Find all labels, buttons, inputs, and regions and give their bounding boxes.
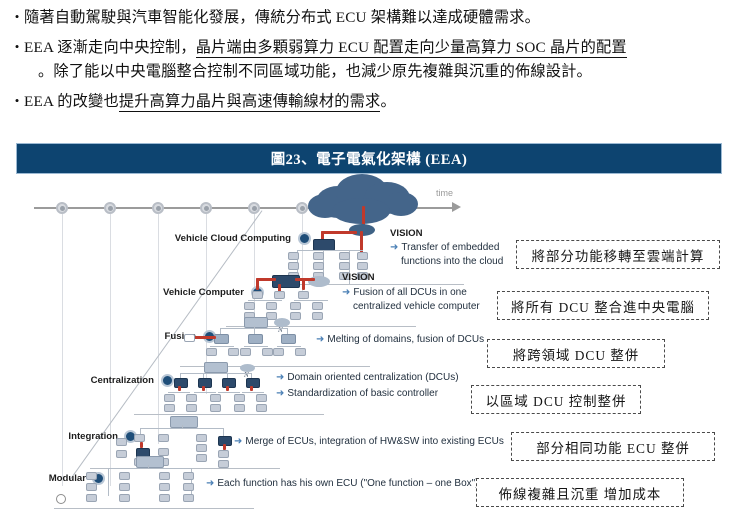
dcu-block-dark xyxy=(174,378,188,388)
ecu-block xyxy=(164,404,175,412)
annotation-box-integration: 部分相同功能 ECU 整併 xyxy=(511,432,715,461)
bus-connector-red xyxy=(295,278,315,281)
timeline-node xyxy=(248,202,260,214)
timeline-label: time xyxy=(436,188,453,198)
ecu-block-white xyxy=(184,334,195,342)
ecu-block xyxy=(210,404,221,412)
bus-line xyxy=(182,425,183,429)
dcu-block xyxy=(248,334,263,344)
ecu-block xyxy=(159,483,170,491)
dcu-block xyxy=(214,334,229,344)
stage-description: ➜Merge of ECUs, integration of HW&SW int… xyxy=(234,436,504,447)
bus-connector-red xyxy=(250,386,253,391)
ecu-block xyxy=(273,348,284,356)
arrow-icon: ➜ xyxy=(206,478,214,489)
ecu-block xyxy=(288,262,299,270)
bullet-text: 隨著自動駕駛與汽車智能化發展，傳統分布式 ECU 架構難以達成硬體需求。 xyxy=(24,6,726,30)
ecu-block xyxy=(290,302,301,310)
dcu-block xyxy=(281,334,296,344)
bus-connector-red xyxy=(321,231,357,234)
bus-line xyxy=(244,346,268,347)
figure-title-bar: 圖23、電子電氣化架構 (EEA) xyxy=(16,143,722,174)
bullet-marker: • xyxy=(10,90,24,111)
figure-canvas: time Vehicle Cloud Computing xyxy=(16,174,722,489)
timeline-arrowhead xyxy=(452,202,461,212)
ecu-block xyxy=(86,494,97,502)
bus-line xyxy=(168,392,190,393)
bullet-text: EEA 的改變也提升高算力晶片與高速傳輸線材的需求。 xyxy=(24,90,726,114)
arrow-icon: ➜ xyxy=(316,334,324,345)
list-item: • EEA 的改變也提升高算力晶片與高速傳輸線材的需求。 xyxy=(10,90,726,114)
arrow-icon: ➜ xyxy=(390,242,398,253)
bus-line xyxy=(277,346,301,347)
ecu-block xyxy=(116,450,127,458)
arrow-icon: ➜ xyxy=(276,372,284,383)
ecu-block xyxy=(206,348,217,356)
bullet-text-continued: 。除了能以中央電腦整合控制不同區域功能，也減少原先複雜與沉重的佈線設計。 xyxy=(24,60,726,84)
stage-label: Vehicle Cloud Computing xyxy=(76,233,291,244)
bus-line xyxy=(210,346,234,347)
timeline-node xyxy=(152,202,164,214)
bus-line xyxy=(218,392,240,393)
stage-description: ➜Transfer of embedded xyxy=(390,242,499,253)
bus-line xyxy=(148,465,149,469)
stage-label: Integration xyxy=(56,431,118,442)
ecu-block xyxy=(234,404,245,412)
ecu-block xyxy=(240,348,251,356)
bus-line xyxy=(180,373,252,374)
bus-connector-red xyxy=(226,386,229,391)
ecu-block xyxy=(158,448,169,456)
vision-keyword: VISION xyxy=(342,272,375,283)
bus-connector-red xyxy=(256,278,259,290)
stage-divider xyxy=(134,414,324,415)
ecu-block xyxy=(134,434,145,442)
ecu-block xyxy=(262,348,273,356)
bullet-text: EEA 逐漸走向中央控制，晶片端由多顆弱算力 ECU 配置走向少量高算力 SOC… xyxy=(24,36,726,60)
dcu-block-dark xyxy=(198,378,212,388)
stage-description: ➜Melting of domains, fusion of DCUs xyxy=(316,334,484,345)
annotation-box-fusion: 將跨領域 DCU 整併 xyxy=(487,339,665,368)
ecu-block xyxy=(274,291,285,299)
ecu-block xyxy=(119,472,130,480)
stage-description: ➜Standardization of basic controller xyxy=(276,388,438,399)
ecu-block xyxy=(228,348,239,356)
bus-line xyxy=(108,468,109,496)
ecu-block xyxy=(234,394,245,402)
ecu-block xyxy=(119,494,130,502)
figure-eea: 圖23、電子電氣化架構 (EEA) time xyxy=(16,143,722,489)
ecu-block xyxy=(256,394,267,402)
bus-line xyxy=(242,392,264,393)
cloud-icon xyxy=(306,172,424,230)
ecu-block xyxy=(159,494,170,502)
stage-description: ➜Domain oriented centralization (DCUs) xyxy=(276,372,459,383)
stage-marker xyxy=(298,232,311,245)
vision-keyword: VISION xyxy=(390,228,423,239)
ecu-block xyxy=(298,291,309,299)
ecu-block xyxy=(86,483,97,491)
dcu-block-dark xyxy=(246,378,260,388)
arrow-icon: ➜ xyxy=(234,436,242,447)
ecu-block xyxy=(116,438,127,446)
ecu-block xyxy=(196,444,207,452)
origin-marker xyxy=(56,494,66,504)
stage-description: functions into the cloud xyxy=(401,256,503,267)
ecu-block xyxy=(357,262,368,270)
bullet-marker: • xyxy=(10,36,24,57)
ecu-block xyxy=(218,450,229,458)
ecu-block xyxy=(183,472,194,480)
timeline-node xyxy=(200,202,212,214)
bus-connector-red xyxy=(256,278,276,281)
ecu-block xyxy=(183,494,194,502)
timeline-node xyxy=(56,202,68,214)
bus-line xyxy=(294,300,328,301)
gateway-block xyxy=(136,456,164,468)
ecu-block xyxy=(312,302,323,310)
ecu-block xyxy=(312,312,323,320)
arrow-icon: ➜ xyxy=(276,388,284,399)
domain-controller-block xyxy=(244,317,268,328)
stage-description: ➜Fusion of all DCUs in one xyxy=(342,287,467,298)
bus-connector-red xyxy=(302,278,305,290)
ecu-block xyxy=(313,252,324,260)
ecu-block xyxy=(159,472,170,480)
arrow-icon: ➜ xyxy=(342,287,350,298)
list-item: • 隨著自動駕駛與汽車智能化發展，傳統分布式 ECU 架構難以達成硬體需求。 xyxy=(10,6,726,30)
annotation-box-centralization: 以區域 DCU 控制整併 xyxy=(471,385,641,414)
underlined-phrase: 晶片端由多顆弱算力 ECU 配置走向少量高算力 SOC 晶片的配置 xyxy=(196,39,627,58)
stage-description: centralized vehicle computer xyxy=(353,301,480,312)
ecu-block xyxy=(210,394,221,402)
timeline-node xyxy=(104,202,116,214)
stage-marker xyxy=(161,374,174,387)
page-title: 圖23、電子電氣化架構 (EEA) xyxy=(271,148,468,169)
bullet-marker: • xyxy=(10,6,24,27)
ecu-block xyxy=(158,434,169,442)
ecu-block xyxy=(266,302,277,310)
ecu-block xyxy=(357,252,368,260)
ecu-block xyxy=(244,302,255,310)
stage-label: Fusion xyxy=(76,331,196,342)
ecu-block xyxy=(288,252,299,260)
annotation-box-vehicle-computer: 將所有 DCU 整合進中央電腦 xyxy=(497,291,709,320)
stage-description: ➜Each function has his own ECU ("One fun… xyxy=(206,478,479,489)
ecu-block xyxy=(186,394,197,402)
ecu-block xyxy=(186,404,197,412)
ecu-block xyxy=(295,348,306,356)
annotation-box-cloud: 將部分功能移轉至雲端計算 xyxy=(516,240,720,269)
stage-label: Centralization xyxy=(66,375,154,386)
ecu-block xyxy=(339,262,350,270)
ecu-block xyxy=(196,434,207,442)
stage-divider xyxy=(54,508,254,509)
stage-label: Vehicle Computer xyxy=(76,287,244,298)
ecu-block xyxy=(196,454,207,462)
ecu-block xyxy=(313,262,324,270)
central-computer-block xyxy=(272,275,300,288)
annotation-box-modular: 佈線複雜且沉重 增加成本 xyxy=(476,478,684,507)
bus-line xyxy=(297,250,363,251)
bus-connector-red xyxy=(192,336,216,339)
ecu-block xyxy=(183,483,194,491)
bus-line xyxy=(248,300,282,301)
ecu-block xyxy=(252,291,263,299)
bus-line xyxy=(108,468,192,469)
bus-connector-red xyxy=(202,386,205,391)
gateway-block xyxy=(170,416,198,428)
bus-connector-red xyxy=(140,442,143,448)
ecu-block xyxy=(339,252,350,260)
ecu-block xyxy=(290,312,301,320)
ecu-block xyxy=(86,472,97,480)
ecu-block xyxy=(119,483,130,491)
list-item: • EEA 逐漸走向中央控制，晶片端由多顆弱算力 ECU 配置走向少量高算力 S… xyxy=(10,36,726,84)
bus-connector-red xyxy=(178,386,181,391)
ecu-block xyxy=(256,404,267,412)
bullet-list: • 隨著自動駕駛與汽車智能化發展，傳統分布式 ECU 架構難以達成硬體需求。 •… xyxy=(0,0,740,114)
domain-controller-block xyxy=(204,362,228,373)
underlined-phrase: 提升高算力晶片與高速傳輸線材的需求 xyxy=(119,93,381,112)
bus-line xyxy=(194,392,216,393)
ecu-block xyxy=(164,394,175,402)
stage-label: Modular xyxy=(16,473,86,484)
dcu-block-dark xyxy=(222,378,236,388)
